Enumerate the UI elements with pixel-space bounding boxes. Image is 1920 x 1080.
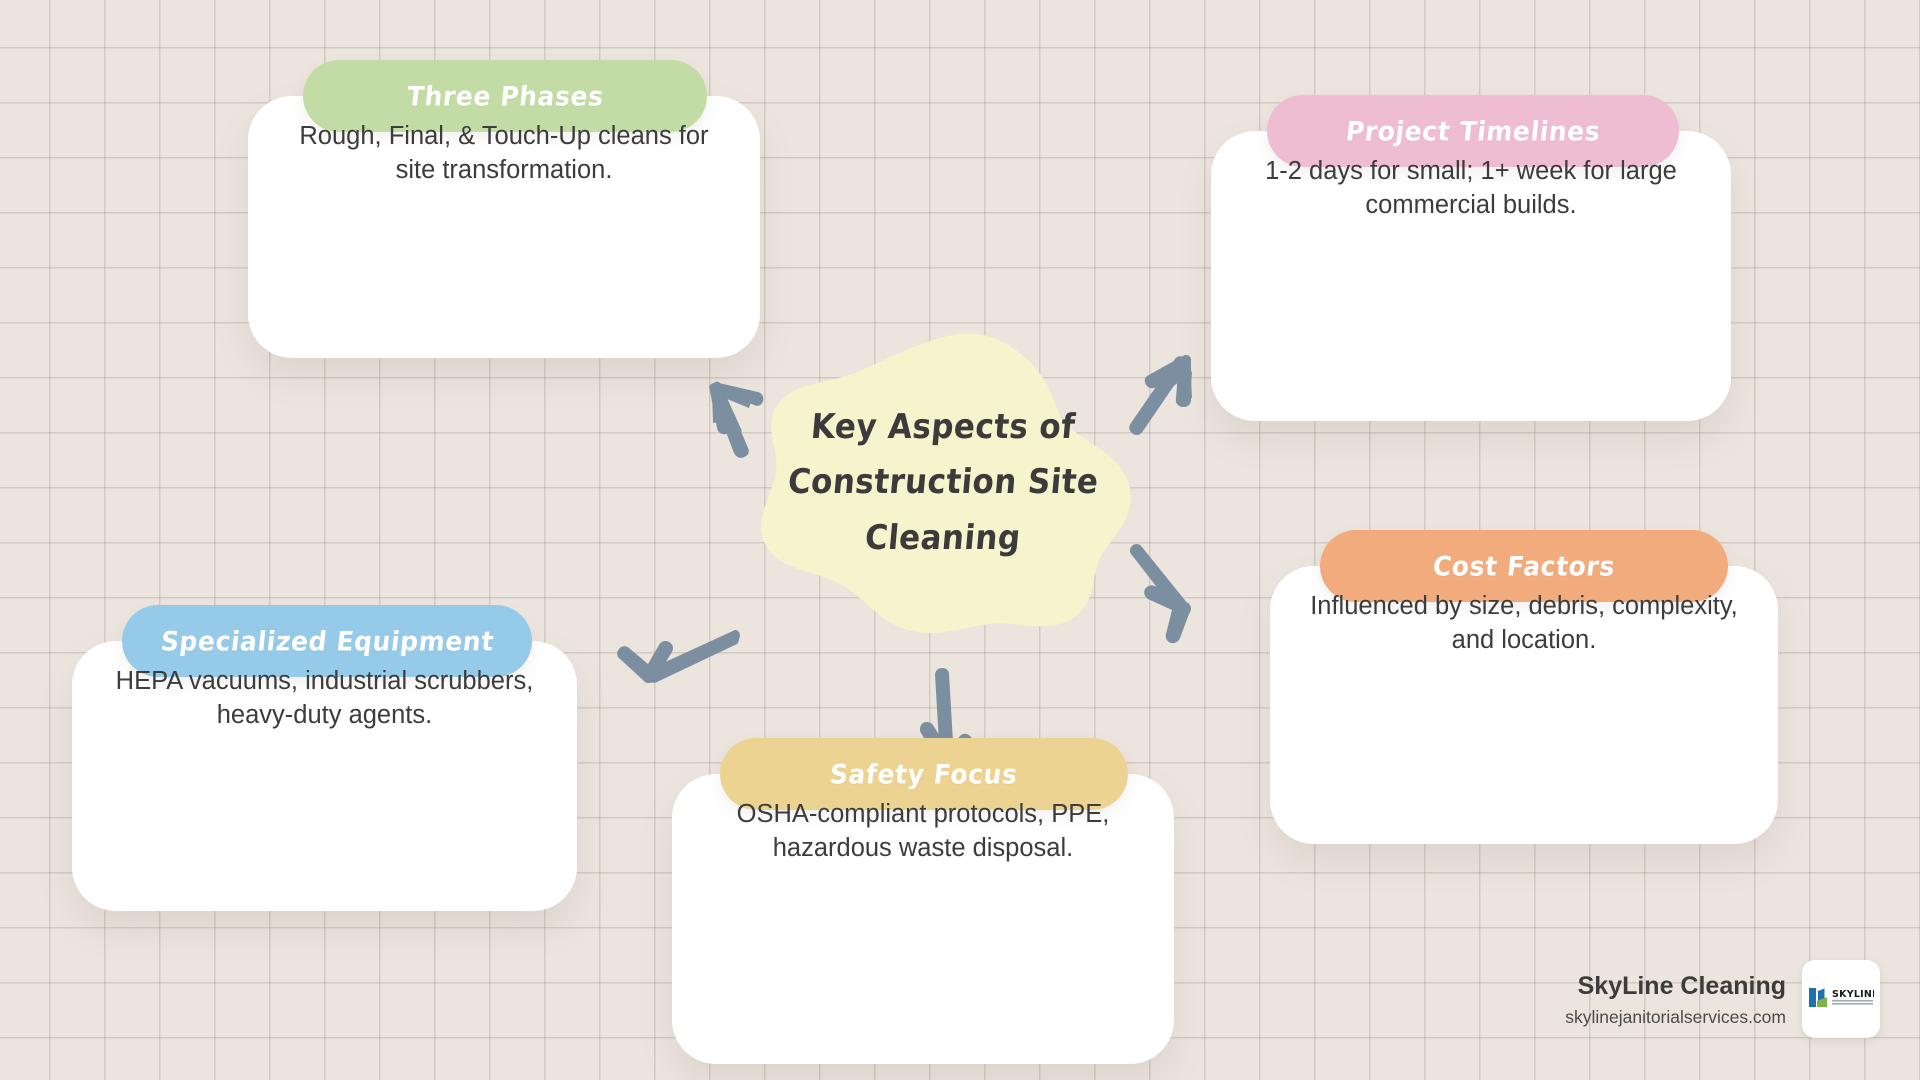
card-description-cost-factors: Influenced by size, debris, complexity, … — [1306, 590, 1743, 657]
arrow-to-project-timelines — [1129, 355, 1192, 435]
card-title-project-timelines: Project Timelines — [1344, 115, 1602, 146]
brand-texts: SkyLine Cleaning skylinejanitorialservic… — [1565, 970, 1786, 1028]
card-description-safety-focus: OSHA-compliant protocols, PPE, hazardous… — [707, 798, 1139, 865]
card-description-three-phases: Rough, Final, & Touch-Up cleans for site… — [284, 120, 724, 187]
center-topic-blob[interactable]: Key Aspects of Construction Site Cleanin… — [752, 332, 1134, 634]
infographic-canvas: Three Phases Rough, Final, & Touch-Up cl… — [0, 0, 1920, 1080]
center-topic-text: Key Aspects of Construction Site Cleanin… — [752, 332, 1134, 634]
card-title-cost-factors: Cost Factors — [1431, 550, 1616, 581]
brand-logo: SKYLINE — [1802, 960, 1880, 1038]
brand-url[interactable]: skylinejanitorialservices.com — [1565, 1007, 1786, 1028]
skyline-logo-icon: SKYLINE — [1808, 984, 1874, 1014]
branding: SkyLine Cleaning skylinejanitorialservic… — [1565, 960, 1880, 1038]
card-description-project-timelines: 1-2 days for small; 1+ week for large co… — [1247, 155, 1694, 222]
svg-text:SKYLINE: SKYLINE — [1832, 989, 1874, 1000]
center-topic-line-2: Construction Site — [785, 453, 1101, 514]
arrow-to-cost-factors — [1126, 544, 1191, 643]
center-topic-line-3: Cleaning — [863, 508, 1024, 569]
arrow-to-specialized-equipment — [617, 630, 740, 683]
card-title-safety-focus: Safety Focus — [829, 758, 1020, 789]
card-title-specialized-equipment: Specialized Equipment — [159, 625, 495, 656]
brand-name: SkyLine Cleaning — [1565, 970, 1786, 1003]
card-title-three-phases: Three Phases — [405, 80, 605, 111]
card-description-specialized-equipment: HEPA vacuums, industrial scrubbers, heav… — [107, 665, 541, 732]
center-topic-line-1: Key Aspects of — [808, 397, 1077, 458]
